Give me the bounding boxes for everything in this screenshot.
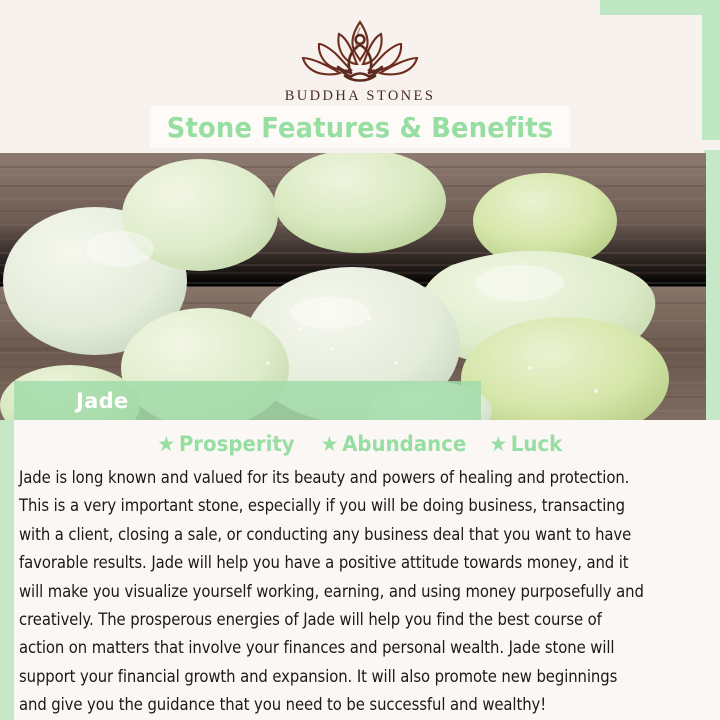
keyword-luck: ★Luck xyxy=(489,432,562,456)
keyword-label: Luck xyxy=(511,432,562,456)
stone-info-poster: BUDDHA STONES Stone Features & Benefits xyxy=(0,0,720,720)
keyword-label: Prosperity xyxy=(179,432,295,456)
keyword-list: ★Prosperity ★Abundance ★Luck xyxy=(14,432,704,456)
photo-caption-bar: Jade xyxy=(14,381,481,420)
star-icon: ★ xyxy=(158,432,176,456)
keyword-abundance: ★Abundance xyxy=(320,432,466,456)
star-icon: ★ xyxy=(320,432,338,456)
keyword-prosperity: ★Prosperity xyxy=(158,432,295,456)
poster-header: BUDDHA STONES Stone Features & Benefits xyxy=(0,0,720,153)
stone-name-label: Jade xyxy=(76,389,128,413)
page-title: Stone Features & Benefits xyxy=(167,111,554,144)
content-panel: ★Prosperity ★Abundance ★Luck Jade is lon… xyxy=(14,420,720,720)
lotus-meditation-icon xyxy=(285,14,435,86)
title-banner: Stone Features & Benefits xyxy=(150,106,570,148)
brand-name: BUDDHA STONES xyxy=(0,88,720,105)
jade-tumbled-stones-photo xyxy=(0,153,706,420)
brand-logo: BUDDHA STONES xyxy=(0,14,720,105)
star-icon: ★ xyxy=(489,432,507,456)
keyword-label: Abundance xyxy=(342,432,466,456)
stone-description: Jade is long known and valued for its be… xyxy=(19,464,646,720)
